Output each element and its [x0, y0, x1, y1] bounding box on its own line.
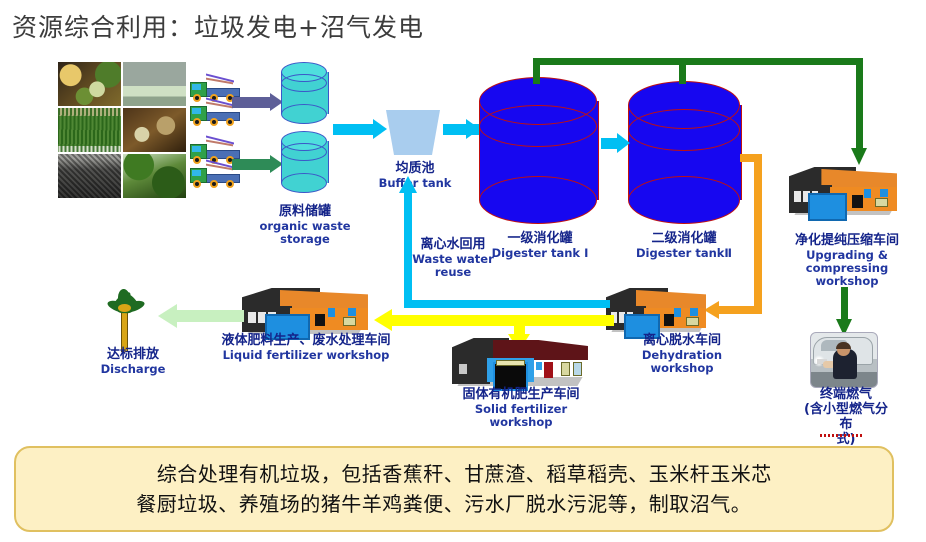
photo-food-waste — [58, 62, 121, 106]
water-reuse-pipe-horizontal — [404, 300, 610, 308]
label-cn: 离心水回用 — [405, 238, 501, 253]
feedstock-photo-grid — [58, 62, 186, 198]
label-en: organic waste storage — [240, 220, 370, 246]
label-organic-waste-storage: 原料储罐 organic waste storage — [240, 205, 370, 246]
label-cn: 净化提纯压缩车间 — [775, 234, 919, 249]
label-cn: 二级消化罐 — [634, 232, 734, 247]
cylinder-tank-icon — [479, 77, 597, 224]
arrow-storage-to-buffer — [333, 124, 373, 135]
biogas-pipe-riser-tank1 — [533, 58, 540, 84]
arrow-storage-to-buffer-head — [373, 119, 387, 139]
label-discharge: 达标排放 Discharge — [86, 348, 180, 376]
car-refuel-icon — [810, 332, 878, 388]
slide-canvas: 资源综合利用：垃圾发电+沼气发电 原料储罐 — [0, 0, 926, 542]
buffer-tank-shape — [386, 110, 440, 155]
label-cn-2: (含小型燃气分布 — [800, 403, 892, 433]
label-dehydration-workshop: 离心脱水车间 Dehydration workshop — [624, 334, 740, 375]
label-digester-tank-2: 二级消化罐 Digester tankⅡ — [634, 232, 734, 260]
cylinder-tank-icon — [281, 131, 327, 193]
caption-text: 综合处理有机垃圾，包括香蕉秆、甘蔗渣、稻草稻壳、玉米杆玉米芯 餐厨垃圾、养殖场的… — [120, 459, 788, 519]
digestate-line-arrowhead — [374, 309, 392, 331]
sludge-pipe-vertical — [754, 154, 762, 314]
label-digester-tank-1: 一级消化罐 Digester tank Ⅰ — [490, 232, 590, 260]
factory-icon — [606, 288, 706, 330]
label-en: Liquid fertilizer workshop — [218, 349, 394, 362]
biogas-pipe-to-biocng — [841, 295, 848, 321]
photo-sludge-pile — [123, 62, 186, 106]
caption-line-1: 综合处理有机垃圾，包括香蕉秆、甘蔗渣、稻草稻壳、玉米杆玉米芯 — [136, 462, 772, 486]
arrow-digester1-to-digester2-head — [617, 133, 630, 153]
photo-banana-leaves — [123, 154, 186, 198]
label-solid-fertilizer-workshop: 固体有机肥生产车间 Solid fertilizer workshop — [448, 388, 594, 429]
digestate-line-horizontal — [392, 315, 614, 326]
caption-line-2: 餐厨垃圾、养殖场的猪牛羊鸡粪便、污水厂脱水污泥等，制取沼气。 — [136, 492, 751, 516]
arrow-feed-top — [232, 97, 270, 108]
biogas-pipe-to-biocng-stub — [841, 287, 848, 295]
label-cn: 固体有机肥生产车间 — [448, 388, 594, 403]
sludge-pipe-horizontal — [718, 306, 762, 314]
label-en-2: reuse — [405, 266, 501, 279]
label-en-2: workshop — [624, 362, 740, 375]
factory-icon — [452, 338, 588, 384]
label-waste-water-reuse: 离心水回用 Waste water reuse — [405, 238, 501, 279]
photo-dewatered-sludge — [58, 154, 121, 198]
arrow-buffer-to-digester1-head — [466, 119, 480, 139]
biogas-pipe-horizontal — [533, 58, 863, 65]
factory-icon — [242, 288, 368, 332]
page-title: 资源综合利用：垃圾发电+沼气发电 — [12, 8, 424, 44]
label-upgrading-workshop: 净化提纯压缩车间 Upgrading & compressing worksho… — [775, 234, 919, 289]
label-en: Solid fertilizer workshop — [448, 403, 594, 429]
label-cn: 达标排放 — [86, 348, 180, 363]
label-cn: 均质池 — [377, 162, 453, 177]
label-liquid-fertilizer-workshop: 液体肥料生产、废水处理车间 Liquid fertilizer workshop — [218, 334, 394, 362]
label-en: Upgrading & compressing — [775, 249, 919, 275]
label-en: Discharge — [86, 363, 180, 376]
label-en: Digester tankⅡ — [634, 247, 734, 260]
label-en: Digester tank Ⅰ — [490, 247, 590, 260]
biogas-pipe-arrowhead — [851, 148, 867, 165]
caption-box: 综合处理有机垃圾，包括香蕉秆、甘蔗渣、稻草稻壳、玉米杆玉米芯 餐厨垃圾、养殖场的… — [14, 446, 894, 532]
label-cn: 液体肥料生产、废水处理车间 — [218, 334, 394, 349]
factory-icon — [789, 167, 897, 213]
water-reuse-pipe-arrowhead — [399, 176, 417, 193]
spellcheck-underline — [820, 434, 864, 437]
photo-bagasse — [123, 108, 186, 152]
cylinder-tank-icon — [281, 62, 327, 124]
photo-straw-grass — [58, 108, 121, 152]
discharge-arrow — [176, 310, 244, 322]
sludge-pipe-arrowhead — [704, 301, 719, 319]
biogas-pipe-downcomer — [856, 58, 863, 150]
label-cn: 一级消化罐 — [490, 232, 590, 247]
label-cn: 离心脱水车间 — [624, 334, 740, 349]
label-cn: 终端燃气 — [800, 388, 892, 403]
arrow-feed-bottom — [232, 159, 270, 170]
biogas-pipe-riser-tank2 — [679, 58, 686, 84]
label-cn: 原料储罐 — [240, 205, 370, 220]
cylinder-tank-icon — [628, 81, 740, 224]
